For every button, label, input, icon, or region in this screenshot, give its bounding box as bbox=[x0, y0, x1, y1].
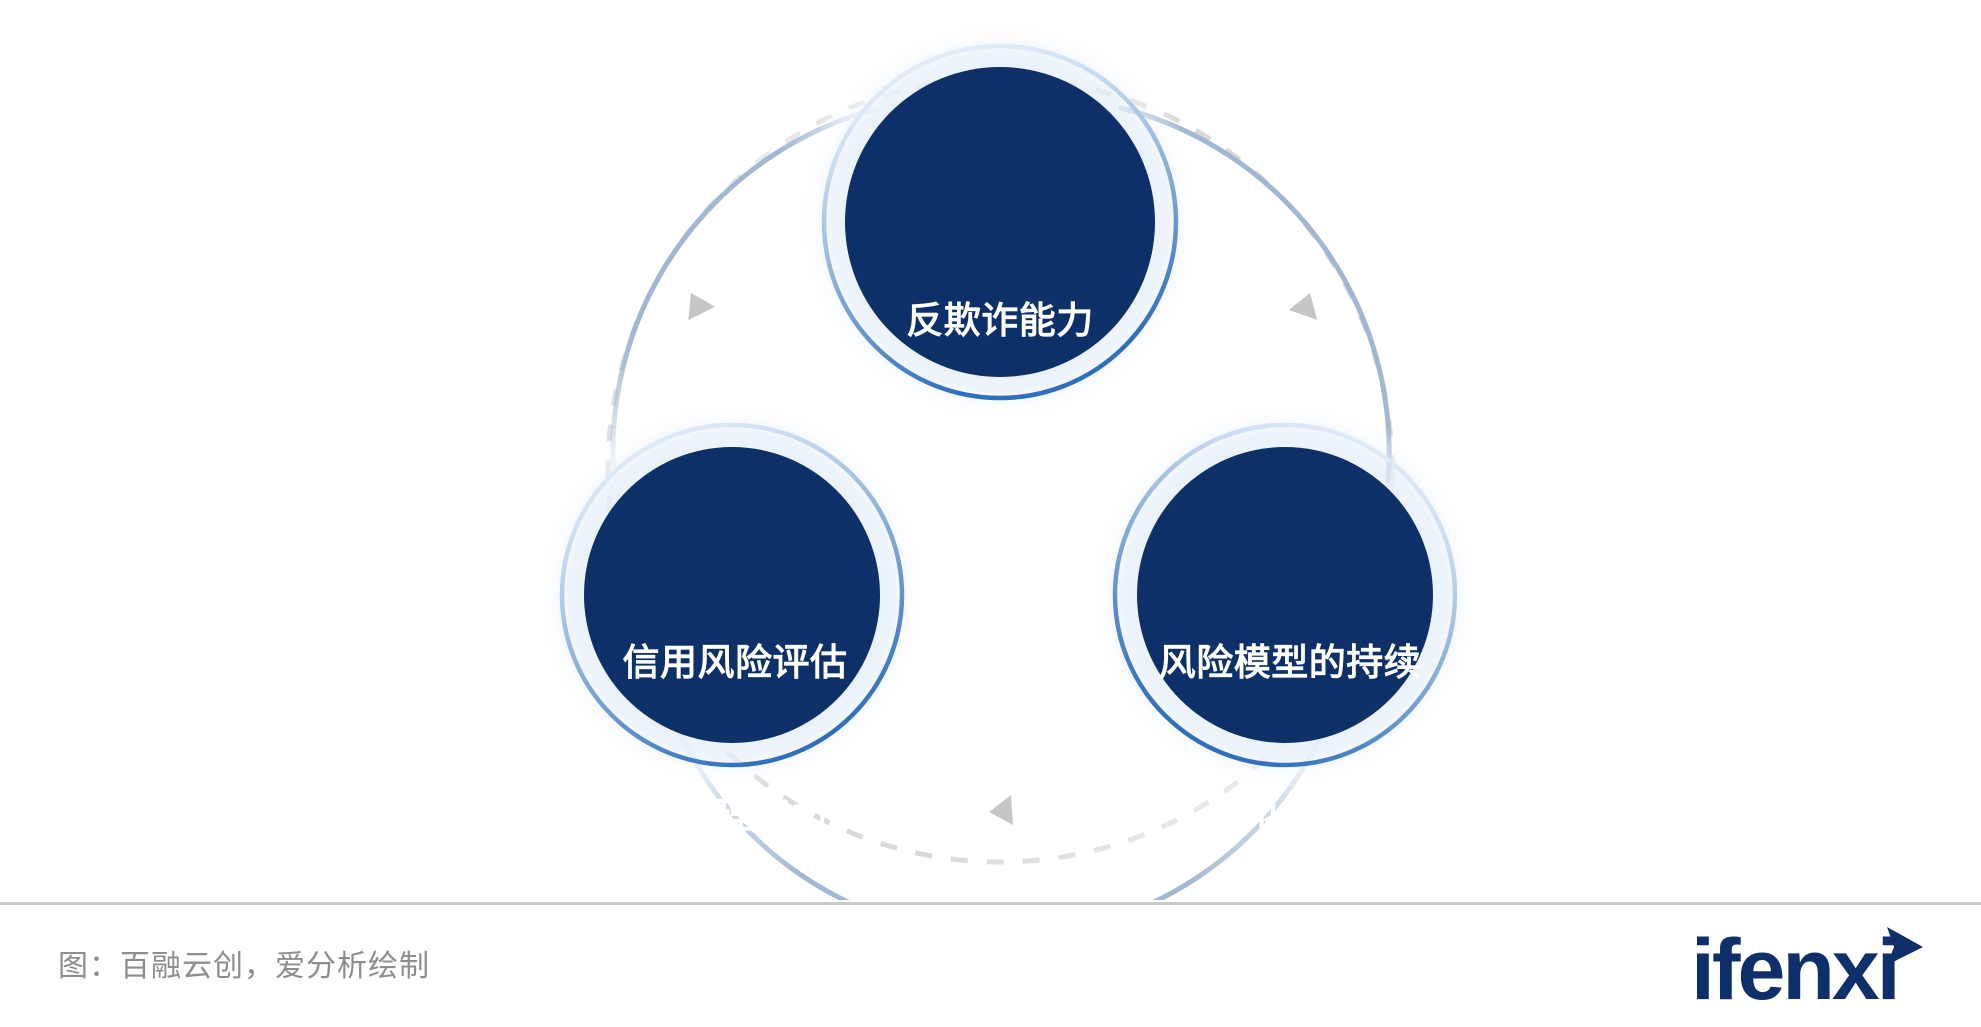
ifenxi-wordmark-text: ifenxi bbox=[1691, 923, 1898, 1015]
ifenxi-wordmark: ifenxi bbox=[1691, 923, 1929, 1015]
node-anti-fraud[interactable] bbox=[795, 17, 1205, 427]
footer: 图：百融云创，爱分析绘制 bbox=[0, 905, 1981, 1027]
cycle-diagram: 反欺诈能力 信用风险评估 及管理能力 风险模型的持续 优化能力 bbox=[0, 0, 1981, 900]
node-anti-fraud-disc bbox=[845, 67, 1155, 377]
arrow-head-bottom bbox=[989, 795, 1013, 825]
arrow-head-right-top bbox=[1289, 288, 1326, 322]
diagram-svg bbox=[0, 0, 1981, 900]
node-model-optimization-disc bbox=[1137, 447, 1433, 743]
node-credit-risk[interactable] bbox=[534, 397, 930, 793]
arrow-head-top-left bbox=[679, 286, 716, 320]
node-model-optimization[interactable] bbox=[1087, 397, 1483, 793]
node-credit-risk-disc bbox=[584, 447, 880, 743]
ifenxi-wordmark-svg: ifenxi bbox=[1691, 923, 1929, 1015]
source-caption: 图：百融云创，爱分析绘制 bbox=[58, 941, 430, 985]
slide-canvas: 反欺诈能力 信用风险评估 及管理能力 风险模型的持续 优化能力 图：百融云创，爱… bbox=[0, 0, 1981, 1027]
